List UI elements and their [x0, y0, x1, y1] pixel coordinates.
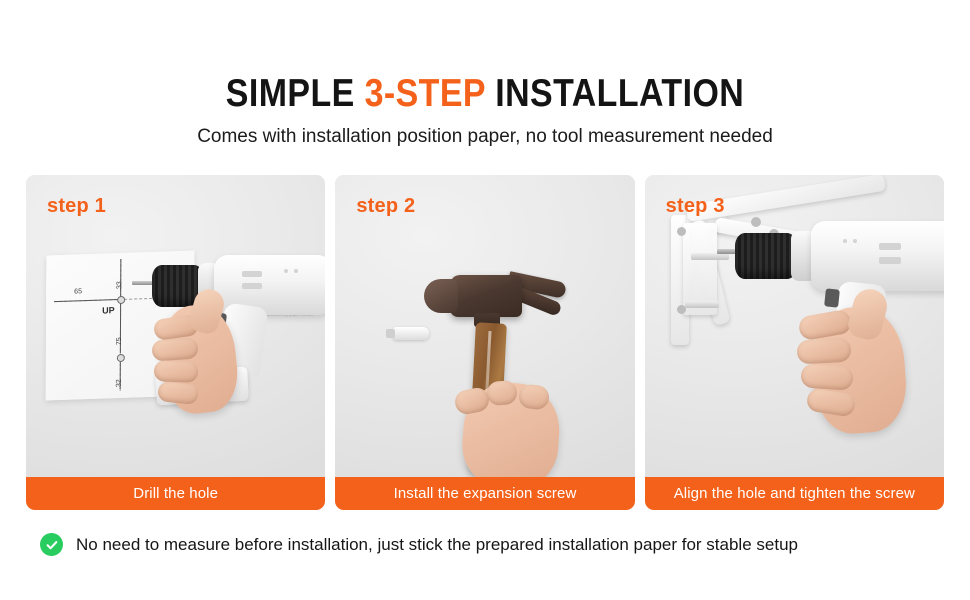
- drill-vent-3: [843, 239, 847, 243]
- hammer-head: [450, 275, 522, 317]
- title-part-one: SIMPLE: [226, 72, 365, 115]
- expansion-screw-anchor: [393, 327, 429, 340]
- drill-vent-1: [879, 243, 901, 250]
- drill-vent-4: [853, 239, 857, 243]
- drill-body: [811, 221, 944, 291]
- drill-vent-4: [294, 269, 298, 273]
- step-card-1: 65 33 75 32 UP: [26, 175, 325, 510]
- drill-chuck: [735, 233, 797, 279]
- step-caption-3: Align the hole and tighten the screw: [645, 477, 944, 510]
- dim-label-33: 33: [116, 281, 123, 289]
- footer-text: No need to measure before installation, …: [76, 535, 798, 555]
- step-caption-1: Drill the hole: [26, 477, 325, 510]
- page-subtitle: Comes with installation position paper, …: [0, 114, 970, 148]
- title-part-two: INSTALLATION: [485, 72, 744, 115]
- hand-finger-3: [800, 363, 854, 391]
- dim-label-75: 75: [116, 337, 123, 345]
- step-label-3: step 3: [666, 195, 725, 218]
- drill-vent-1: [242, 271, 262, 277]
- check-circle-icon: [40, 533, 63, 556]
- template-hole-mark-top: [117, 296, 125, 304]
- step-2-photo: [335, 175, 634, 477]
- template-hole-mark-bottom: [117, 354, 125, 362]
- step-caption-2: Install the expansion screw: [335, 477, 634, 510]
- hand: [453, 373, 583, 477]
- step-card-2: step 2 Install the expansion screw: [335, 175, 634, 510]
- hand: [148, 283, 268, 423]
- header: SIMPLE 3-STEP INSTALLATION Comes with in…: [0, 0, 970, 148]
- hammer-face: [424, 279, 458, 313]
- dim-label-65: 65: [74, 288, 82, 295]
- hand: [797, 287, 937, 447]
- installation-infographic: SIMPLE 3-STEP INSTALLATION Comes with in…: [0, 0, 970, 600]
- step-label-2: step 2: [356, 195, 415, 218]
- hand-finger-3: [154, 360, 199, 383]
- bracket-pin-top: [677, 227, 686, 236]
- hand-finger-2: [151, 337, 198, 361]
- dim-label-32: 32: [116, 379, 123, 387]
- hand-finger-2: [796, 338, 851, 365]
- step-card-3: step 3 Align the hole and tighten the sc…: [645, 175, 944, 510]
- up-orientation-label: UP: [102, 305, 115, 315]
- drill-vent-2: [879, 257, 901, 264]
- bracket-mount-screw-bottom: [685, 301, 719, 308]
- drill-vent-3: [284, 269, 288, 273]
- bracket-hinge-pin-1: [751, 217, 761, 227]
- step-3-photo: [645, 175, 944, 477]
- step-1-photo: 65 33 75 32 UP: [26, 175, 325, 477]
- steps-row: 65 33 75 32 UP: [26, 175, 944, 510]
- title-accent: 3-STEP: [365, 72, 486, 115]
- dim-line-75: [120, 301, 121, 353]
- dim-line-65: [54, 299, 118, 302]
- dim-line-33: [120, 259, 121, 299]
- hand-finger-4: [157, 381, 199, 405]
- footer-note: No need to measure before installation, …: [40, 533, 798, 556]
- step-label-1: step 1: [47, 195, 106, 218]
- page-title: SIMPLE 3-STEP INSTALLATION: [63, 0, 907, 114]
